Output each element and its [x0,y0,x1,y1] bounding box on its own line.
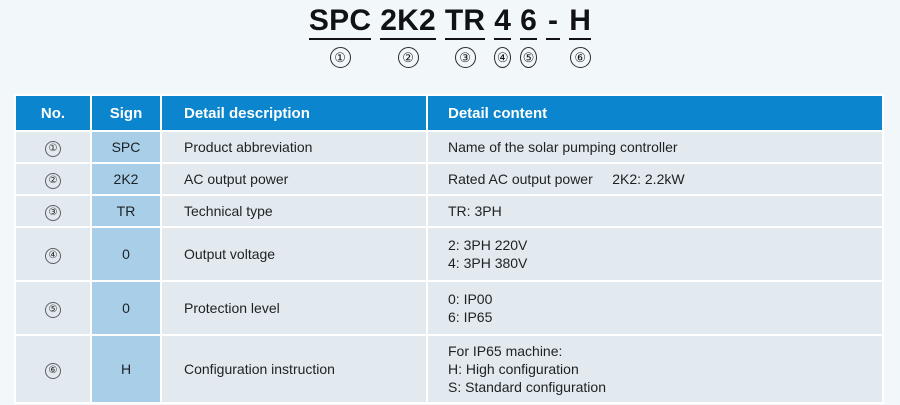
code-segment-underline [520,38,537,40]
code-segment-4: 4 [494,5,511,40]
code-segment-text: 2K2 [380,5,436,37]
code-segment-underline [445,38,485,40]
circled-number-icon: ① [45,141,61,157]
cell-description: Configuration instruction [162,336,426,402]
code-segment-underline [546,38,560,40]
table-row: ③TRTechnical typeTR: 3PH [16,196,882,226]
model-code-table: No. Sign Detail description Detail conte… [14,94,884,404]
cell-sign: 0 [92,282,160,334]
table-body: ①SPCProduct abbreviationName of the sola… [16,132,882,402]
cell-content: Rated AC output power 2K2: 2.2kW [428,164,882,194]
cell-no: ② [16,164,90,194]
cell-no: ⑤ [16,282,90,334]
table-row: ①SPCProduct abbreviationName of the sola… [16,132,882,162]
cell-content: TR: 3PH [428,196,882,226]
content-line: 2: 3PH 220V [448,236,882,254]
column-header-description: Detail description [162,96,426,130]
cell-sign: SPC [92,132,160,162]
code-segment-5: 6 [520,5,537,40]
column-header-no: No. [16,96,90,130]
cell-description: Output voltage [162,228,426,280]
code-segment-3: TR [445,5,485,40]
code-segment-text: - [546,5,560,37]
circled-number-icon: ③ [455,47,476,68]
code-segment-2: 2K2 [380,5,436,40]
content-line: Name of the solar pumping controller [448,138,882,156]
model-code-segments: SPC2K2TR46-H [0,0,900,40]
cell-content: For IP65 machine:H: High configurationS:… [428,336,882,402]
circled-number-icon: ① [330,47,351,68]
code-segment-text: 6 [520,5,537,37]
cell-no: ① [16,132,90,162]
code-segment-underline [569,38,591,40]
column-header-sign: Sign [92,96,160,130]
cell-sign: 2K2 [92,164,160,194]
cell-content: 0: IP006: IP65 [428,282,882,334]
code-marker-slot-5: ⑤ [520,47,537,68]
cell-description: Technical type [162,196,426,226]
content-line: 4: 3PH 380V [448,254,882,272]
code-marker-slot-4: ④ [494,47,511,68]
circled-number-icon: ② [45,173,61,189]
code-segment-7: H [569,5,591,40]
cell-sign: 0 [92,228,160,280]
content-line: For IP65 machine: [448,342,882,360]
column-header-content: Detail content [428,96,882,130]
table-row: ⑤0Protection level0: IP006: IP65 [16,282,882,334]
circled-number-icon: ⑥ [45,363,61,379]
code-segment-underline [309,38,371,40]
cell-no: ③ [16,196,90,226]
cell-description: Product abbreviation [162,132,426,162]
table-row: ④0Output voltage2: 3PH 220V4: 3PH 380V [16,228,882,280]
model-code-markers: ①②③④⑤⑥ [0,47,900,68]
code-segment-underline [380,38,436,40]
cell-sign: H [92,336,160,402]
content-line: TR: 3PH [448,202,882,220]
cell-description: AC output power [162,164,426,194]
table-header-row: No. Sign Detail description Detail conte… [16,96,882,130]
code-segment-underline [494,38,511,40]
cell-description: Protection level [162,282,426,334]
circled-number-icon: ④ [494,47,511,68]
code-marker-slot-1: ① [309,47,371,68]
cell-no: ④ [16,228,90,280]
cell-no: ⑥ [16,336,90,402]
circled-number-icon: ② [398,47,419,68]
table-row: ②2K2AC output powerRated AC output power… [16,164,882,194]
circled-number-icon: ③ [45,205,61,221]
table-row: ⑥HConfiguration instructionFor IP65 mach… [16,336,882,402]
content-line: S: Standard configuration [448,378,882,396]
code-segment-1: SPC [309,5,371,40]
content-line: H: High configuration [448,360,882,378]
circled-number-icon: ⑤ [45,302,61,318]
circled-number-icon: ⑤ [520,47,537,68]
code-segment-6: - [546,5,560,40]
cell-content: Name of the solar pumping controller [428,132,882,162]
code-marker-slot-2: ② [380,47,436,68]
code-marker-slot-7: ⑥ [569,47,591,68]
code-segment-text: 4 [494,5,511,37]
cell-content: 2: 3PH 220V4: 3PH 380V [428,228,882,280]
content-line: 0: IP00 [448,290,882,308]
code-segment-text: TR [445,5,485,37]
model-code-diagram: SPC2K2TR46-H ①②③④⑤⑥ [0,0,900,86]
circled-number-icon: ④ [45,248,61,264]
content-line: Rated AC output power 2K2: 2.2kW [448,170,882,188]
code-marker-slot-3: ③ [445,47,485,68]
content-line: 6: IP65 [448,308,882,326]
code-segment-text: SPC [309,5,371,37]
table-header: No. Sign Detail description Detail conte… [16,96,882,130]
code-segment-text: H [569,5,591,37]
circled-number-icon: ⑥ [570,47,591,68]
model-code-page: SPC2K2TR46-H ①②③④⑤⑥ No. Sign Detail desc… [0,0,900,405]
cell-sign: TR [92,196,160,226]
